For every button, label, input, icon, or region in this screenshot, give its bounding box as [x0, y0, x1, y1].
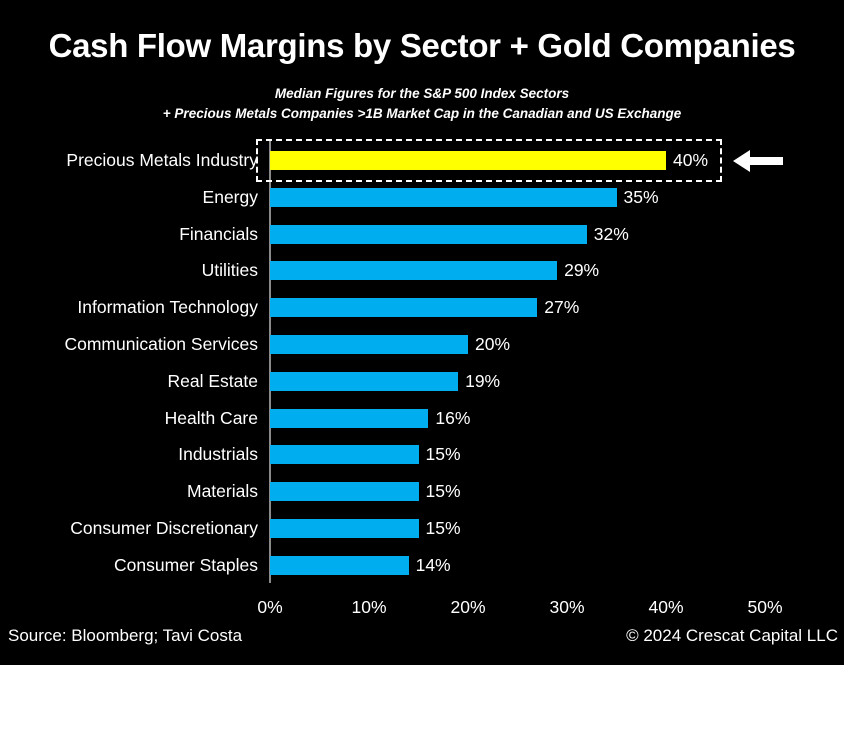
- highlight-dashed-box: [256, 139, 722, 182]
- bar: [270, 445, 419, 464]
- bar-value-label: 16%: [435, 406, 470, 431]
- bar-category-label: Health Care: [0, 406, 258, 431]
- bar-row: Consumer Discretionary15%: [0, 519, 844, 538]
- bar-value-label: 35%: [624, 185, 659, 210]
- bar-category-label: Financials: [0, 222, 258, 247]
- bar-row: Real Estate19%: [0, 372, 844, 391]
- bar-category-label: Utilities: [0, 258, 258, 283]
- x-axis-tick-label: 40%: [626, 597, 706, 618]
- bar-value-label: 15%: [426, 516, 461, 541]
- bar-row: Energy35%: [0, 188, 844, 207]
- page-bottom-fill: [0, 665, 844, 730]
- bar-row: Industrials15%: [0, 445, 844, 464]
- bar-value-label: 32%: [594, 222, 629, 247]
- bar-value-label: 15%: [426, 479, 461, 504]
- bar-value-label: 29%: [564, 258, 599, 283]
- chart-plot-area: Precious Metals Industry40%Energy35%Fina…: [0, 0, 844, 665]
- footer-copyright: © 2024 Crescat Capital LLC: [626, 626, 838, 646]
- x-axis-tick-label: 50%: [725, 597, 805, 618]
- x-axis-tick-label: 10%: [329, 597, 409, 618]
- bar: [270, 409, 428, 428]
- bar-category-label: Real Estate: [0, 369, 258, 394]
- bar-row: Financials32%: [0, 225, 844, 244]
- bar-value-label: 14%: [416, 553, 451, 578]
- bar-row: Information Technology27%: [0, 298, 844, 317]
- x-axis-tick-label: 0%: [230, 597, 310, 618]
- bar-row: Materials15%: [0, 482, 844, 501]
- bar: [270, 298, 537, 317]
- bar-category-label: Precious Metals Industry: [0, 148, 258, 173]
- bar-category-label: Energy: [0, 185, 258, 210]
- bar-value-label: 27%: [544, 295, 579, 320]
- bar-category-label: Communication Services: [0, 332, 258, 357]
- bar-value-label: 20%: [475, 332, 510, 357]
- footer-source: Source: Bloomberg; Tavi Costa: [8, 626, 242, 646]
- bar: [270, 519, 419, 538]
- bar-category-label: Consumer Staples: [0, 553, 258, 578]
- bar: [270, 225, 587, 244]
- x-axis-tick-label: 20%: [428, 597, 508, 618]
- bar-row: Communication Services20%: [0, 335, 844, 354]
- x-axis-tick-label: 30%: [527, 597, 607, 618]
- bar: [270, 335, 468, 354]
- bar-value-label: 19%: [465, 369, 500, 394]
- bar-row: Consumer Staples14%: [0, 556, 844, 575]
- bar-category-label: Consumer Discretionary: [0, 516, 258, 541]
- x-axis-line: [269, 582, 270, 583]
- bar-category-label: Information Technology: [0, 295, 258, 320]
- bar-category-label: Industrials: [0, 442, 258, 467]
- bar-category-label: Materials: [0, 479, 258, 504]
- bar-row: Utilities29%: [0, 261, 844, 280]
- bar: [270, 372, 458, 391]
- bar: [270, 556, 409, 575]
- chart-card: Cash Flow Margins by Sector + Gold Compa…: [0, 0, 844, 665]
- bar: [270, 482, 419, 501]
- bar-row: Health Care16%: [0, 409, 844, 428]
- bar-value-label: 15%: [426, 442, 461, 467]
- left-arrow-icon: [733, 147, 783, 175]
- bar: [270, 188, 617, 207]
- bar: [270, 261, 557, 280]
